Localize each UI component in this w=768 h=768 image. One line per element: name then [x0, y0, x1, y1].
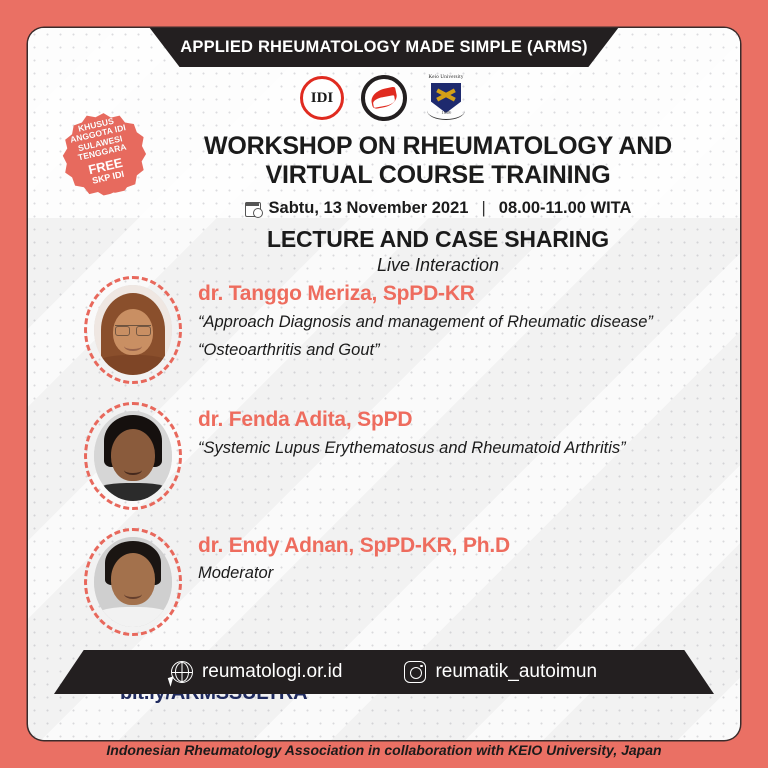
footer-contact-bar: reumatologi.or.id reumatik_autoimun	[54, 650, 714, 694]
speaker-name: dr. Tanggo Meriza, SpPD-KR	[198, 282, 706, 306]
instagram-contact[interactable]: reumatik_autoimun	[404, 661, 597, 683]
speaker-topic-1: “Approach Diagnosis and management of Rh…	[198, 310, 706, 334]
speaker-details: dr. Endy Adnan, SpPD-KR, Ph.D Moderator	[198, 528, 706, 584]
website-contact[interactable]: reumatologi.or.id	[171, 661, 342, 683]
speaker-name: dr. Fenda Adita, SpPD	[198, 408, 706, 432]
instagram-handle: reumatik_autoimun	[435, 661, 597, 683]
event-date: Sabtu, 13 November 2021	[269, 199, 469, 218]
section-heading: LECTURE AND CASE SHARING Live Interactio…	[160, 226, 716, 276]
idi-logo: IDI	[299, 75, 345, 121]
speaker-role: Moderator	[198, 562, 706, 584]
speaker-avatar	[84, 528, 182, 636]
keio-logo-year: 1858	[423, 110, 469, 115]
date-time-row: Sabtu, 13 November 2021 | 08.00-11.00 WI…	[160, 199, 716, 218]
speaker-row: dr. Tanggo Meriza, SpPD-KR “Approach Dia…	[28, 276, 740, 384]
keio-logo: Keio University 1858	[423, 75, 469, 121]
speaker-row: dr. Fenda Adita, SpPD “Systemic Lupus Er…	[28, 402, 740, 510]
speaker-topic-1: “Systemic Lupus Erythematosus and Rheuma…	[198, 436, 706, 460]
instagram-icon	[404, 661, 426, 683]
website-url: reumatologi.or.id	[202, 661, 342, 683]
headline-line-2: VIRTUAL COURSE TRAINING	[160, 161, 716, 190]
banner-title: APPLIED RHEUMATOLOGY MADE SIMPLE (ARMS)	[180, 38, 587, 57]
speaker-row: dr. Endy Adnan, SpPD-KR, Ph.D Moderator	[28, 528, 740, 636]
poster-card: APPLIED RHEUMATOLOGY MADE SIMPLE (ARMS) …	[28, 28, 740, 740]
avatar-photo-1	[94, 285, 172, 375]
speaker-topic-2: “Osteoarthritis and Gout”	[198, 338, 706, 362]
avatar-photo-3	[94, 537, 172, 627]
speaker-list: dr. Tanggo Meriza, SpPD-KR “Approach Dia…	[28, 276, 740, 654]
top-banner: APPLIED RHEUMATOLOGY MADE SIMPLE (ARMS)	[149, 28, 619, 67]
footer-caption: Indonesian Rheumatology Association in c…	[0, 742, 768, 758]
date-time-separator: |	[475, 199, 491, 218]
event-time: 08.00-11.00 WITA	[499, 199, 632, 218]
headline-block: WORKSHOP ON RHEUMATOLOGY AND VIRTUAL COU…	[160, 132, 716, 218]
speaker-name: dr. Endy Adnan, SpPD-KR, Ph.D	[198, 534, 706, 558]
speaker-details: dr. Tanggo Meriza, SpPD-KR “Approach Dia…	[198, 276, 706, 362]
speaker-details: dr. Fenda Adita, SpPD “Systemic Lupus Er…	[198, 402, 706, 460]
section-subtitle: Live Interaction	[160, 255, 716, 276]
idi-logo-mark: IDI	[308, 84, 336, 112]
speaker-avatar	[84, 402, 182, 510]
poster: APPLIED RHEUMATOLOGY MADE SIMPLE (ARMS) …	[0, 0, 768, 768]
speaker-avatar	[84, 276, 182, 384]
globe-icon	[171, 661, 193, 683]
headline-line-1: WORKSHOP ON RHEUMATOLOGY AND	[160, 132, 716, 161]
calendar-clock-icon	[245, 200, 262, 217]
section-title: LECTURE AND CASE SHARING	[160, 226, 716, 253]
ipr-logo	[361, 75, 407, 121]
avatar-photo-2	[94, 411, 172, 501]
keio-logo-wordmark: Keio University	[423, 75, 469, 80]
